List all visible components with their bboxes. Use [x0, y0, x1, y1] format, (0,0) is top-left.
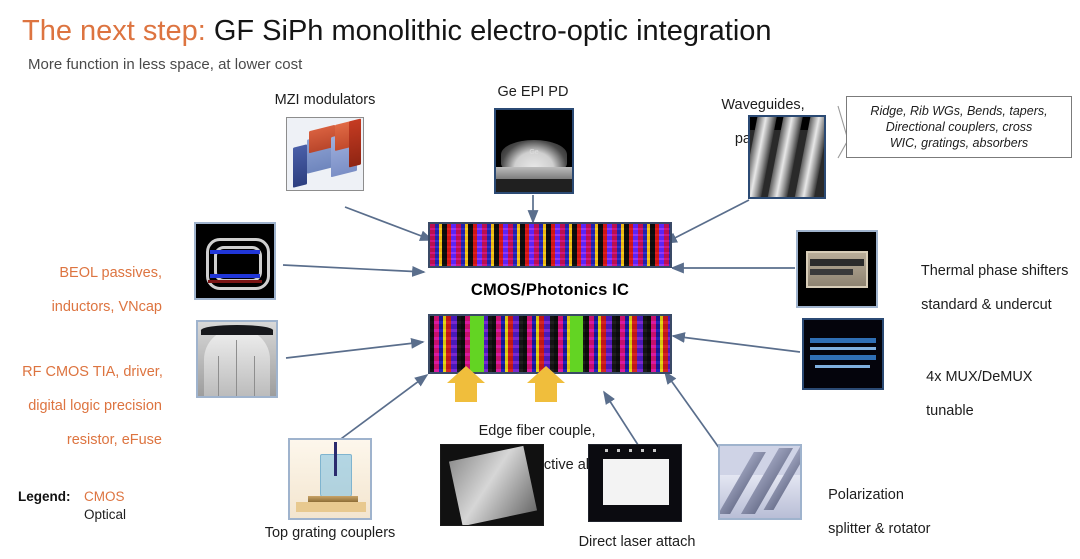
grating-stage	[296, 502, 366, 512]
ge-substrate-layer	[496, 167, 572, 178]
inductor-via-bar	[208, 280, 262, 283]
label-ge-epi-pd: Ge EPI PD	[468, 84, 598, 101]
label-rf-line2: digital logic precision	[28, 398, 162, 414]
label-beol-line2: inductors, VNcap	[52, 299, 162, 315]
inductor-metal-top	[210, 250, 260, 254]
ge-base-layer	[496, 179, 572, 192]
callout-line3: WIC, gratings, absorbers	[890, 136, 1028, 150]
mux-bus-4	[815, 365, 870, 368]
label-polarization-line1: Polarization	[828, 487, 904, 503]
label-rf-line3: resistor, eFuse	[67, 432, 162, 448]
mux-bus-3	[810, 355, 876, 360]
label-polarization: Polarization splitter & rotator	[812, 470, 992, 555]
die-waveguide-marker-left	[470, 316, 484, 374]
mux-bus-2	[810, 347, 876, 350]
mzi-arm-right	[349, 119, 361, 168]
label-mux-demux: 4x MUX/DeMUX tunable	[910, 352, 1076, 437]
inductor-metal-bottom	[210, 274, 260, 278]
thumb-direct-laser-attach	[588, 444, 682, 522]
legend-cmos: CMOS	[84, 489, 125, 504]
title-accent: The next step:	[22, 15, 206, 47]
thumb-tilted-sem	[440, 444, 544, 526]
thumb-top-grating-couplers	[288, 438, 372, 520]
thumb-polarization-splitter	[718, 444, 802, 520]
label-mzi-modulators: MZI modulators	[255, 92, 395, 109]
legend-optical: Optical	[84, 507, 126, 522]
label-rf-line1: RF CMOS TIA, driver,	[22, 364, 163, 380]
callout-waveguide-devices: Ridge, Rib WGs, Bends, tapers, Direction…	[846, 96, 1072, 158]
mux-bus-1	[810, 338, 876, 343]
thumb-rf-cmos-stack	[196, 320, 278, 398]
tilted-sem-facet	[449, 446, 537, 526]
laser-pad-1	[605, 449, 608, 452]
heater-trench-1	[810, 259, 863, 266]
label-thermal-line1: Thermal phase shifters	[921, 263, 1068, 279]
laser-attach-window	[603, 459, 669, 505]
label-direct-laser-attach: Direct laser attach	[552, 534, 722, 551]
laser-pad-2	[617, 449, 620, 452]
label-mux-line1: 4x MUX/DeMUX	[926, 369, 1032, 385]
callout-line2: Directional couplers, cross	[886, 120, 1033, 134]
label-edge-line1: Edge fiber couple,	[479, 423, 596, 439]
mzi-arm-left	[293, 144, 307, 187]
subtitle: More function in less space, at lower co…	[28, 56, 302, 73]
label-polarization-line2: splitter & rotator	[828, 521, 930, 537]
ge-annotation: Ge	[496, 149, 572, 156]
title-main: GF SiPh monolithic electro-optic integra…	[214, 15, 772, 47]
thumb-beol-inductor	[194, 222, 276, 300]
label-top-grating-couplers: Top grating couplers	[246, 525, 414, 542]
rf-top-cap	[201, 325, 273, 335]
rf-via-right	[254, 356, 255, 396]
label-mux-line2: tunable	[926, 403, 974, 419]
callout-line1: Ridge, Rib WGs, Bends, tapers,	[870, 104, 1047, 118]
rf-via-left	[218, 356, 219, 396]
thumb-mzi-modulators	[286, 117, 364, 191]
label-beol-line1: BEOL passives,	[59, 265, 162, 281]
thumb-waveguides	[748, 115, 826, 199]
label-waveguides-line1: Waveguides,	[721, 97, 804, 113]
heater-trench-2	[810, 269, 852, 275]
die-top-overlay	[430, 224, 670, 266]
laser-pad-3	[629, 449, 632, 452]
thumb-thermal-phase-shifter	[796, 230, 878, 308]
die-waveguide-marker-right	[570, 316, 583, 374]
laser-pad-5	[653, 449, 656, 452]
thumb-mux-demux	[802, 318, 884, 390]
page-title: The next step: GF SiPh monolithic electr…	[22, 14, 772, 48]
die-bottom-overlay	[430, 316, 670, 372]
rf-dome	[204, 329, 270, 396]
label-rf-cmos: RF CMOS TIA, driver, digital logic preci…	[6, 347, 162, 466]
rf-via-center	[236, 340, 237, 396]
ic-label: CMOS/Photonics IC	[428, 281, 672, 300]
die-image-bottom	[428, 314, 672, 374]
thumb-ge-epi-pd: Ge	[494, 108, 574, 194]
grating-fiber-probe	[334, 442, 337, 476]
legend-title: Legend:	[18, 489, 71, 504]
label-thermal-phase-shifters: Thermal phase shifters standard & underc…	[905, 246, 1080, 331]
die-image-top	[428, 222, 672, 268]
label-beol-passives: BEOL passives, inductors, VNcap	[10, 248, 162, 333]
laser-pad-4	[641, 449, 644, 452]
label-thermal-line2: standard & undercut	[921, 297, 1052, 313]
slide-canvas: The next step: GF SiPh monolithic electr…	[0, 0, 1080, 559]
